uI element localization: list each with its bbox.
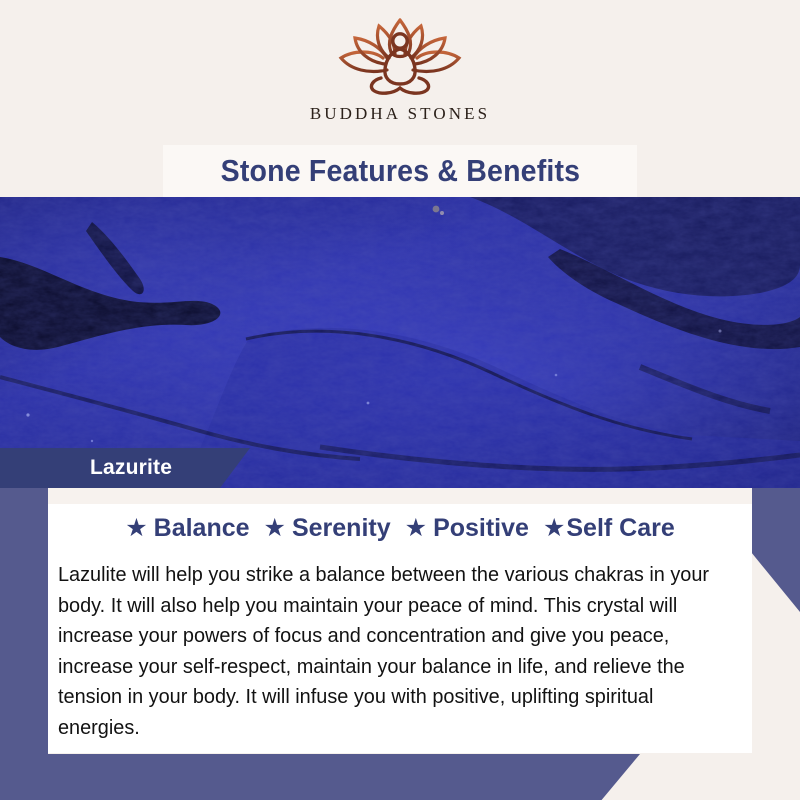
benefit-item: ★ Serenity [264,514,405,543]
decor-band-bottom [0,754,640,800]
stone-photo [0,197,800,488]
benefit-item: ★ Self Care [543,514,675,543]
description-text: Lazulite will help you strike a balance … [58,560,727,743]
card-top-tint [48,488,752,504]
stone-photo-graphic [0,197,800,488]
content-card: ★ Balance ★ Serenity ★ Positive ★ Self C… [48,488,752,753]
lotus-meditation-figure-icon [325,14,475,100]
benefit-label: Self Care [566,514,674,543]
brand-logo: BUDDHA STONES [0,14,800,124]
benefit-label: Balance [154,514,250,543]
benefits-row: ★ Balance ★ Serenity ★ Positive ★ Self C… [48,514,752,543]
title-plate: Stone Features & Benefits [163,145,637,197]
stone-benefits-poster: BUDDHA STONES Stone Features & Benefits [0,0,800,800]
benefit-label: Positive [433,514,529,543]
page-title: Stone Features & Benefits [220,153,580,189]
benefit-item: ★ Balance [125,514,263,543]
brand-name: BUDDHA STONES [310,104,490,124]
benefit-item: ★ Positive [405,514,543,543]
star-icon: ★ [405,516,427,541]
star-icon: ★ [125,516,147,541]
stone-name: Lazurite [90,456,172,480]
star-icon: ★ [543,516,565,541]
star-icon: ★ [264,516,286,541]
decor-band-left [0,488,48,800]
benefit-label: Serenity [292,514,391,543]
stone-name-tab: Lazurite [0,448,250,488]
